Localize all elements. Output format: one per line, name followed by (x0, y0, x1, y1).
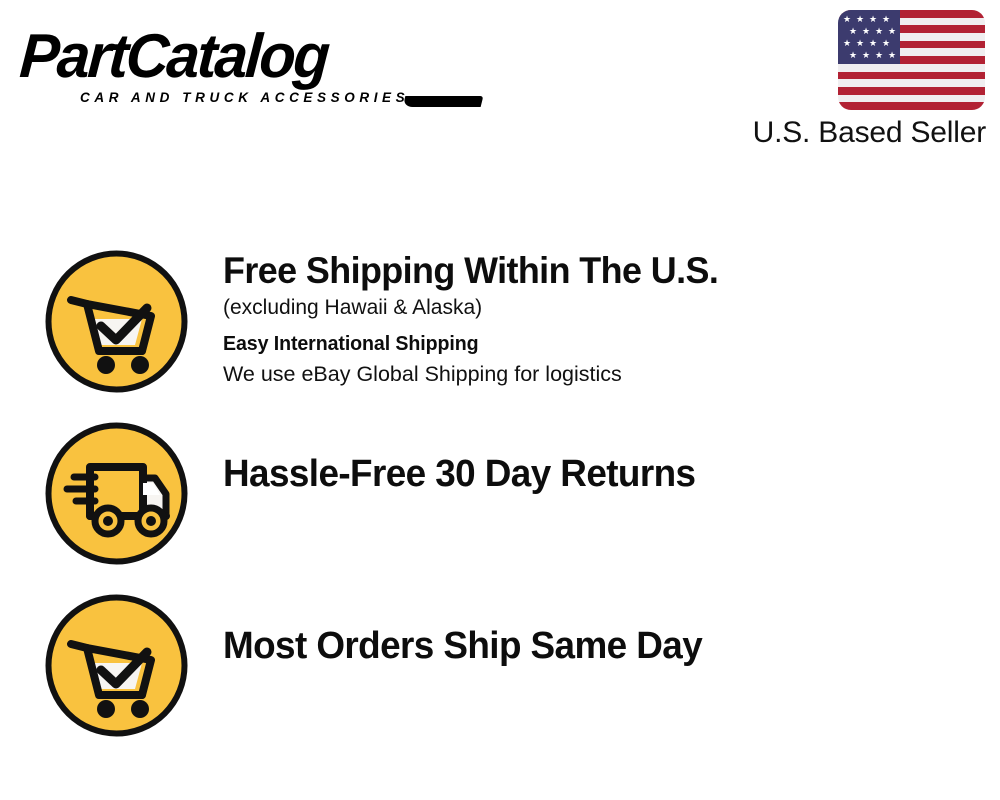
shopping-cart-check-icon (43, 248, 190, 395)
brand-wordmark: PartCatalog (18, 26, 473, 88)
feature-title: Hassle-Free 30 Day Returns (223, 452, 941, 497)
feature-text-block: Free Shipping Within The U.S. (excluding… (223, 248, 963, 389)
page-header: PartCatalog CAR AND TRUCK ACCESSORIES ★ … (0, 0, 1000, 170)
feature-text-block: Hassle-Free 30 Day Returns (223, 420, 963, 497)
feature-text-block: Most Orders Ship Same Day (223, 592, 963, 669)
delivery-truck-icon (43, 420, 190, 567)
us-based-seller-label: U.S. Based Seller (753, 116, 986, 150)
feature-sub-heading: Easy International Shipping (223, 329, 948, 359)
us-flag-badge: ★ ★ ★ ★ ★ ★ ★ ★ ★ ★ ★ ★ ★ ★ ★ ★ (838, 10, 985, 110)
logo-swash-decoration (403, 96, 484, 107)
feature-title: Free Shipping Within The U.S. (223, 248, 941, 293)
feature-subtitle: (excluding Hawaii & Alaska) (223, 293, 963, 323)
us-flag-icon: ★ ★ ★ ★ ★ ★ ★ ★ ★ ★ ★ ★ ★ ★ ★ ★ (838, 10, 985, 110)
feature-title: Most Orders Ship Same Day (223, 624, 941, 669)
shopping-cart-check-icon (43, 592, 190, 739)
feature-sub-detail: We use eBay Global Shipping for logistic… (223, 359, 963, 389)
flag-canton: ★ ★ ★ ★ ★ ★ ★ ★ ★ ★ ★ ★ ★ ★ ★ ★ (838, 10, 900, 64)
brand-logo[interactable]: PartCatalog CAR AND TRUCK ACCESSORIES (22, 26, 492, 106)
